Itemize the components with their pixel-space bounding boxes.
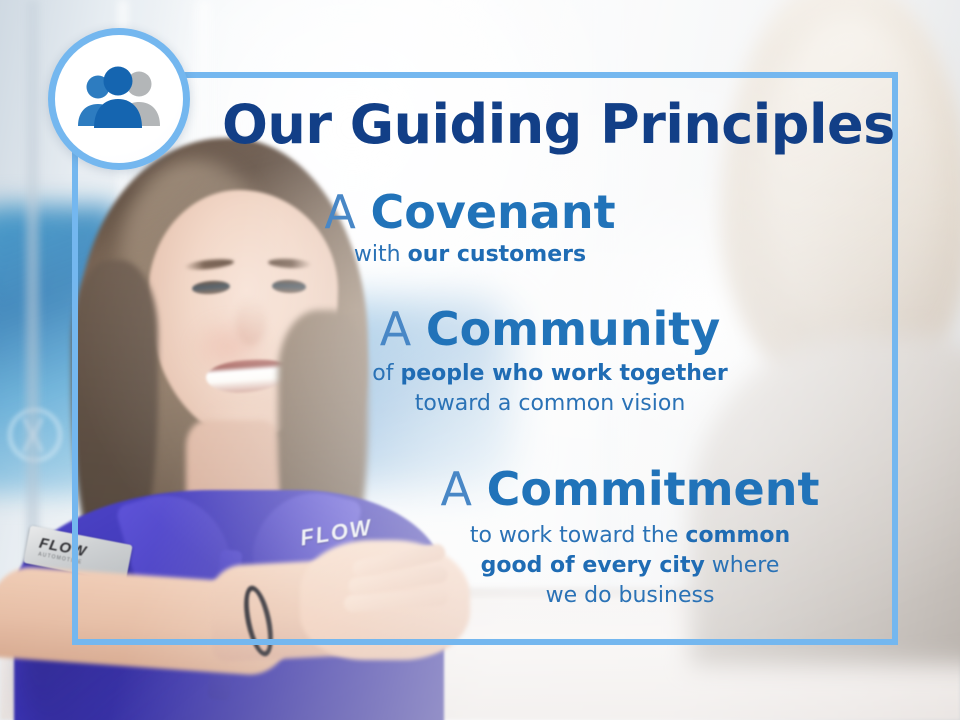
principle-description-line: toward a common vision xyxy=(300,389,800,419)
principle-heading-covenant: A Covenant xyxy=(250,186,690,238)
principle-commitment: A Commitmentto work toward the commongoo… xyxy=(380,463,880,611)
principle-keyword: Covenant xyxy=(371,185,616,239)
principle-description-line: good of every city where xyxy=(380,551,880,581)
plain-text: toward a common vision xyxy=(415,391,686,416)
principle-heading-commitment: A Commitment xyxy=(380,463,880,515)
principle-heading-community: A Community xyxy=(300,303,800,355)
principle-description-community: of people who work togethertoward a comm… xyxy=(300,359,800,419)
plain-text: with xyxy=(354,242,408,267)
principle-covenant: A Covenantwith our customers xyxy=(250,186,690,270)
principle-description-line: with our customers xyxy=(250,240,690,270)
principle-description-line: of people who work together xyxy=(300,359,800,389)
principle-description-line: we do business xyxy=(380,581,880,611)
blurred-customer xyxy=(690,0,960,535)
principle-description-commitment: to work toward the commongood of every c… xyxy=(380,521,880,611)
principle-keyword: Commitment xyxy=(487,462,820,516)
guiding-principles-poster: FLOW AUTOMOTIVE FLOW xyxy=(0,0,960,720)
principle-keyword: Community xyxy=(426,302,720,356)
page-title: Our Guiding Principles xyxy=(222,96,862,154)
plain-text: we do business xyxy=(546,583,715,608)
principle-article: A xyxy=(380,302,426,356)
people-group-icon xyxy=(73,66,165,132)
emphasis-text: our customers xyxy=(408,242,587,267)
emphasis-text: people who work together xyxy=(400,361,727,386)
customer-hair-highlight xyxy=(764,15,939,345)
principle-article: A xyxy=(324,185,370,239)
principle-article: A xyxy=(441,462,487,516)
plain-text: to work toward the xyxy=(470,523,686,548)
people-group-badge xyxy=(48,28,190,170)
principle-description-covenant: with our customers xyxy=(250,240,690,270)
principle-community: A Communityof people who work togetherto… xyxy=(300,303,800,419)
plain-text: where xyxy=(705,553,780,578)
emphasis-text: common xyxy=(685,523,790,548)
principle-description-line: to work toward the common xyxy=(380,521,880,551)
plain-text: of xyxy=(372,361,400,386)
emphasis-text: good of every city xyxy=(481,553,705,578)
